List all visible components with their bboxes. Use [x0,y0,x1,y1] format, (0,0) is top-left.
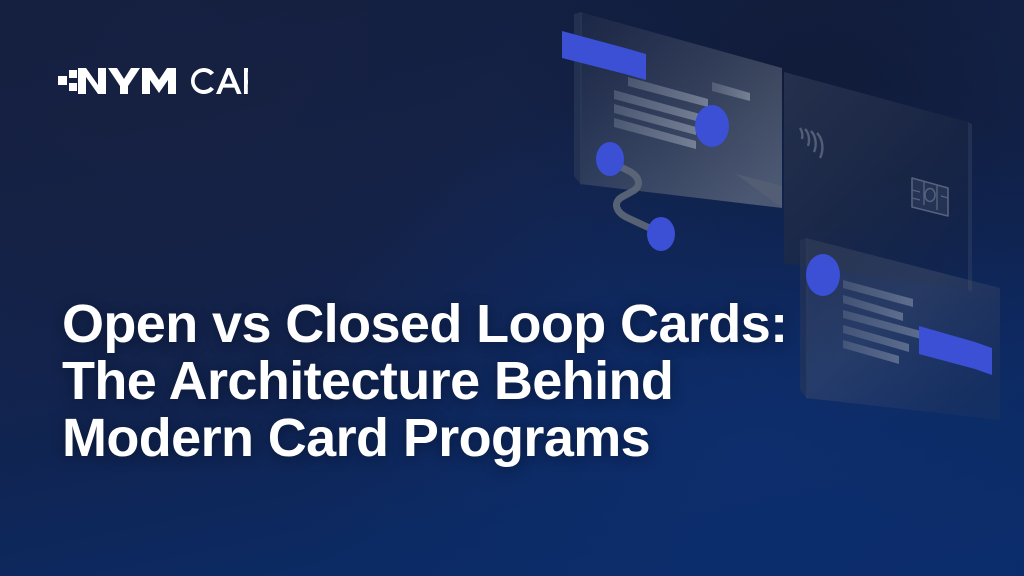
nymcard-wordmark-light [191,68,248,94]
nymcard-logo[interactable] [58,61,248,101]
nymcard-logo-svg [58,64,248,98]
nymcard-pixel-mark-icon [58,70,77,91]
page-title-line-1: Open vs Closed Loop Cards: [62,296,922,353]
nymcard-wordmark-bold [78,68,176,94]
page-title: Open vs Closed Loop Cards: The Architect… [62,296,922,467]
page-title-line-3: Modern Card Programs [62,410,922,467]
hero-banner: Open vs Closed Loop Cards: The Architect… [0,0,1024,576]
page-title-line-2: The Architecture Behind [62,353,922,410]
